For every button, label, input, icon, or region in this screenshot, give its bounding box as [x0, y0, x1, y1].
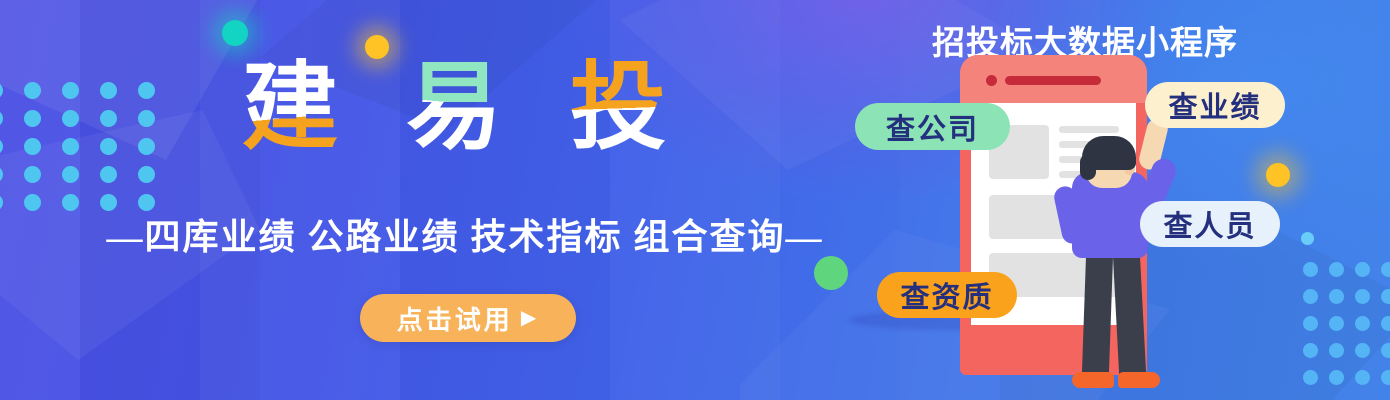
brand-char-1: 建: [242, 58, 360, 158]
tag-search-personnel[interactable]: 查人员: [1140, 201, 1280, 247]
grid-dot: [24, 110, 41, 127]
grid-dot: [0, 138, 3, 155]
brand-char-2: 易: [406, 58, 524, 158]
tag-search-qualification[interactable]: 查资质: [877, 272, 1017, 318]
person-shoe: [1118, 372, 1160, 388]
tag-label: 查人员: [1163, 203, 1256, 245]
person-shoe: [1072, 372, 1114, 388]
tag-label: 查公司: [886, 106, 979, 148]
phone-header-dot-icon: [986, 75, 997, 86]
grid-dot: [24, 194, 41, 211]
phone-header-title-bar: [1005, 76, 1101, 85]
person-illustration: [1050, 140, 1185, 390]
brand-char-3: 投: [570, 58, 688, 158]
screen-text-line: [1059, 126, 1119, 133]
try-now-button[interactable]: 点击试用 ▶: [360, 294, 576, 342]
grid-dot: [24, 166, 41, 183]
subtitle: —四库业绩 公路业绩 技术指标 组合查询—: [60, 208, 870, 260]
grid-dot: [0, 166, 3, 183]
person-leg: [1113, 247, 1147, 380]
tag-label: 查业绩: [1168, 84, 1261, 126]
person-leg: [1082, 248, 1114, 381]
grid-dot: [0, 194, 3, 211]
grid-dot: [24, 82, 41, 99]
headline-block: 建 易 投 —四库业绩 公路业绩 技术指标 组合查询— 点击试用 ▶: [60, 0, 870, 400]
brand-title: 建 易 投: [60, 58, 870, 158]
try-now-label: 点击试用: [397, 300, 513, 337]
promo-banner: 建 易 投 —四库业绩 公路业绩 技术指标 组合查询— 点击试用 ▶ 招投标大数…: [0, 0, 1390, 400]
tag-search-performance[interactable]: 查业绩: [1145, 82, 1285, 128]
grid-dot: [0, 110, 3, 127]
illustration-block: 招投标大数据小程序: [855, 0, 1390, 400]
grid-dot: [0, 82, 3, 99]
phone-header-bar: [960, 55, 1147, 103]
play-arrow-icon: ▶: [521, 308, 539, 328]
person-hair: [1080, 154, 1096, 180]
tag-search-company[interactable]: 查公司: [855, 103, 1010, 150]
grid-dot: [24, 138, 41, 155]
tag-label: 查资质: [900, 274, 993, 316]
